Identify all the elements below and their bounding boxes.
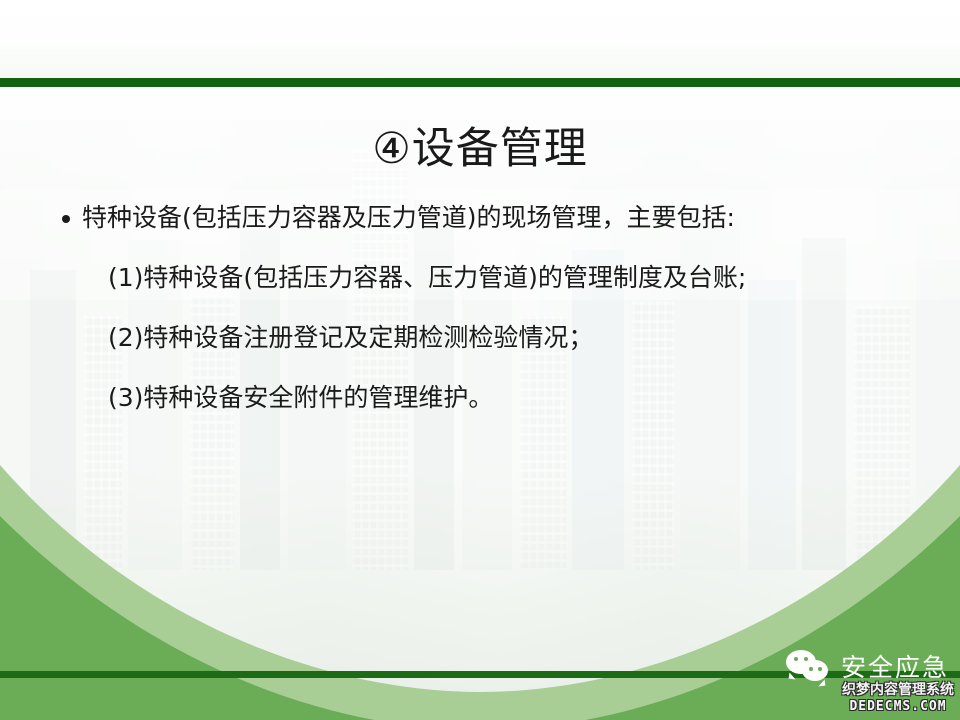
wechat-icon — [786, 649, 832, 683]
wechat-dot — [794, 657, 798, 661]
sub-item-1: (1)特种设备(包括压力容器、压力管道)的管理制度及台账; — [58, 263, 918, 293]
sub-item-2: (2)特种设备注册登记及定期检测检验情况； — [58, 323, 918, 353]
watermark-chinese: 织梦内容管理系统 — [842, 683, 954, 698]
wechat-bubble-small — [802, 660, 828, 681]
wechat-account-name: 安全应急 — [841, 648, 949, 684]
wechat-dot — [809, 667, 813, 671]
slide-title: ④设备管理 — [0, 125, 960, 174]
wechat-dot — [804, 657, 808, 661]
header-rule — [0, 78, 960, 87]
wechat-dot — [818, 667, 822, 671]
presentation-slide: ④设备管理 特种设备(包括压力容器及压力管道)的现场管理，主要包括: (1)特种… — [0, 0, 960, 720]
bullet-item: 特种设备(包括压力容器及压力管道)的现场管理，主要包括: — [58, 203, 918, 233]
bullet-dot-icon — [62, 215, 70, 223]
watermark: 织梦内容管理系统 DEDECMS.COM — [842, 683, 954, 715]
header-area — [0, 0, 960, 78]
slide-body: 特种设备(包括压力容器及压力管道)的现场管理，主要包括: (1)特种设备(包括压… — [58, 203, 918, 443]
watermark-english: DEDECMS.COM — [842, 699, 954, 715]
bullet-item-label: 特种设备(包括压力容器及压力管道)的现场管理，主要包括: — [82, 203, 735, 232]
wechat-branding: 安全应急 — [786, 648, 949, 684]
sub-item-3: (3)特种设备安全附件的管理维护。 — [58, 383, 918, 413]
